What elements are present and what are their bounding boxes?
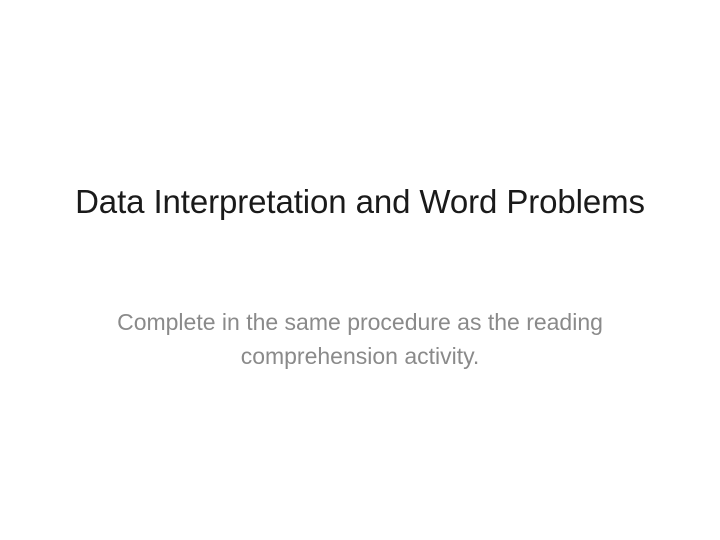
page-title: Data Interpretation and Word Problems: [60, 176, 660, 228]
presentation-slide: Data Interpretation and Word Problems Co…: [0, 0, 720, 540]
title-placeholder[interactable]: Data Interpretation and Word Problems: [60, 176, 660, 228]
subtitle-placeholder[interactable]: Complete in the same procedure as the re…: [112, 305, 608, 373]
slide-subtitle: Complete in the same procedure as the re…: [112, 305, 608, 373]
